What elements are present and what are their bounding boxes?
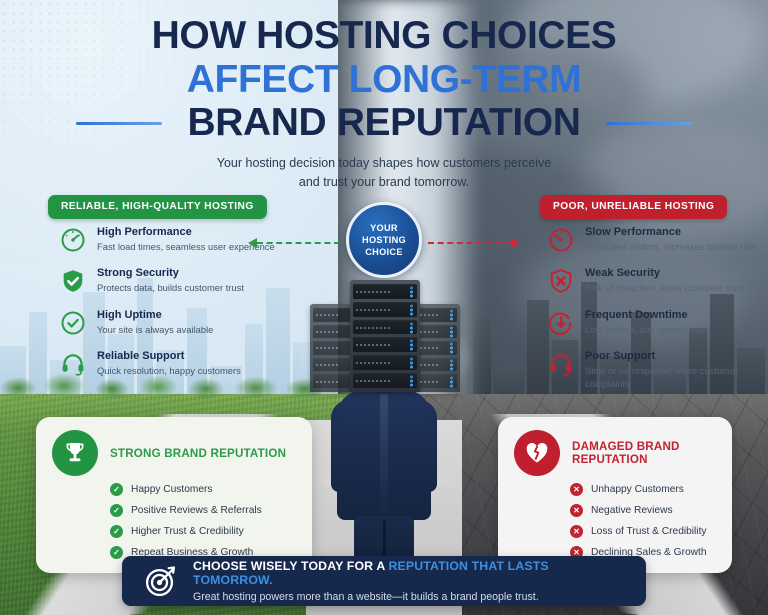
cross-icon: ✕ xyxy=(570,504,583,517)
benefit-list: ✓Happy Customers ✓Positive Reviews & Ref… xyxy=(52,483,296,559)
shield-check-icon xyxy=(60,268,86,294)
card-title: DAMAGED BRAND REPUTATION xyxy=(572,440,716,466)
hub-line-1: YOUR xyxy=(370,223,398,233)
footer-subline: Great hosting powers more than a website… xyxy=(193,591,624,603)
risk-list: ✕Unhappy Customers ✕Negative Reviews ✕Lo… xyxy=(514,483,716,559)
damaged-brand-reputation-card: DAMAGED BRAND REPUTATION ✕Unhappy Custom… xyxy=(498,417,732,573)
arrow-to-poor xyxy=(428,237,520,249)
arrow-to-reliable xyxy=(248,237,340,249)
list-item-label: Unhappy Customers xyxy=(591,484,684,495)
page-title-line-1: HOW HOSTING CHOICES xyxy=(0,14,768,58)
broken-heart-icon xyxy=(514,430,560,476)
hub-line-3: CHOICE xyxy=(365,247,403,257)
feature-title: Reliable Support xyxy=(97,350,241,364)
subtitle-line-2: and trust your brand tomorrow. xyxy=(0,173,768,192)
feature-desc: Protects data, builds customer trust xyxy=(97,282,244,295)
headset-icon xyxy=(548,351,574,377)
hub-line-2: HOSTING xyxy=(362,235,406,245)
arrow-dash-right xyxy=(428,242,511,244)
feature-item: Weak Security Risk of breaches, loses cu… xyxy=(548,267,768,294)
cross-icon: ✕ xyxy=(570,483,583,496)
arrow-dash-left xyxy=(257,242,340,244)
call-to-action-banner: CHOOSE WISELY TODAY FOR A REPUTATION THA… xyxy=(122,556,646,606)
person-suit-jacket xyxy=(337,390,431,520)
footer-headline-plain: CHOOSE WISELY TODAY FOR A xyxy=(193,559,388,573)
check-icon: ✓ xyxy=(110,504,123,517)
page-title-line-3-row: BRAND REPUTATION xyxy=(0,101,768,145)
poor-hosting-feature-list: Slow Performance Frustrates visitors, in… xyxy=(548,226,768,404)
target-arrow-icon xyxy=(144,564,178,598)
arrow-head-right-icon xyxy=(511,238,520,248)
feature-item: Poor Support Slow or no response, more c… xyxy=(548,350,768,390)
list-item: ✓Higher Trust & Credibility xyxy=(110,525,296,538)
title-rule-right xyxy=(606,122,692,125)
strong-brand-reputation-card: STRONG BRAND REPUTATION ✓Happy Customers… xyxy=(36,417,312,573)
page-title-line-3: BRAND REPUTATION xyxy=(188,101,581,145)
feature-desc: Slow or no response, more customer compl… xyxy=(585,365,768,390)
cross-icon: ✕ xyxy=(570,525,583,538)
your-hosting-choice-hub[interactable]: YOUR HOSTING CHOICE xyxy=(346,202,422,278)
subtitle-line-1: Your hosting decision today shapes how c… xyxy=(0,154,768,173)
feature-title: Weak Security xyxy=(585,267,744,281)
feature-text: Slow Performance Frustrates visitors, in… xyxy=(585,226,756,253)
list-item: ✓Positive Reviews & Referrals xyxy=(110,504,296,517)
list-item: ✕Loss of Trust & Credibility xyxy=(570,525,716,538)
infographic-canvas: HOW HOSTING CHOICES AFFECT LONG-TERM BRA… xyxy=(0,0,768,615)
feature-text: Weak Security Risk of breaches, loses cu… xyxy=(585,267,744,294)
feature-title: Poor Support xyxy=(585,350,768,364)
feature-desc: Risk of breaches, loses customer trust xyxy=(585,282,744,295)
page-title-line-2: AFFECT LONG-TERM xyxy=(0,58,768,102)
feature-text: Frequent Downtime Lost visitors, lost op… xyxy=(585,309,711,336)
feature-desc: Quick resolution, happy customers xyxy=(97,365,241,378)
clock-check-icon xyxy=(60,310,86,336)
feature-title: Strong Security xyxy=(97,267,244,281)
list-item-label: Negative Reviews xyxy=(591,505,673,516)
list-item-label: Higher Trust & Credibility xyxy=(131,526,244,537)
list-item: ✓Happy Customers xyxy=(110,483,296,496)
feature-title: High Uptime xyxy=(97,309,213,323)
feature-text: High Uptime Your site is always availabl… xyxy=(97,309,213,336)
feature-item: Slow Performance Frustrates visitors, in… xyxy=(548,226,768,253)
reliable-hosting-feature-list: High Performance Fast load times, seamle… xyxy=(60,226,290,392)
card-header: STRONG BRAND REPUTATION xyxy=(52,430,296,476)
card-header: DAMAGED BRAND REPUTATION xyxy=(514,430,716,476)
server-rack-center xyxy=(350,280,420,392)
list-item-label: Positive Reviews & Referrals xyxy=(131,505,262,516)
feature-item: Strong Security Protects data, builds cu… xyxy=(60,267,290,294)
check-icon: ✓ xyxy=(110,546,123,559)
hub-label: YOUR HOSTING CHOICE xyxy=(362,222,406,258)
feature-desc: Lost visitors, lost opportunities xyxy=(585,324,711,337)
header: HOW HOSTING CHOICES AFFECT LONG-TERM BRA… xyxy=(0,14,768,193)
list-item-label: Happy Customers xyxy=(131,484,213,495)
check-icon: ✓ xyxy=(110,525,123,538)
downtime-arrow-icon xyxy=(548,310,574,336)
feature-text: Reliable Support Quick resolution, happy… xyxy=(97,350,241,377)
speedometer-icon xyxy=(60,227,86,253)
list-item: ✕Negative Reviews xyxy=(570,504,716,517)
badge-poor-hosting: POOR, UNRELIABLE HOSTING xyxy=(540,195,727,219)
list-item: ✕Unhappy Customers xyxy=(570,483,716,496)
trophy-icon xyxy=(52,430,98,476)
subtitle: Your hosting decision today shapes how c… xyxy=(0,154,768,193)
footer-text-block: CHOOSE WISELY TODAY FOR A REPUTATION THA… xyxy=(193,559,624,603)
feature-desc: Frustrates visitors, increases bounce ra… xyxy=(585,241,756,254)
feature-title: Slow Performance xyxy=(585,226,756,240)
feature-item: High Uptime Your site is always availabl… xyxy=(60,309,290,336)
headset-icon xyxy=(60,351,86,377)
check-icon: ✓ xyxy=(110,483,123,496)
feature-desc: Your site is always available xyxy=(97,324,213,337)
list-item-label: Loss of Trust & Credibility xyxy=(591,526,707,537)
badge-reliable-hosting: RELIABLE, HIGH-QUALITY HOSTING xyxy=(48,195,267,219)
card-title: STRONG BRAND REPUTATION xyxy=(110,447,286,460)
title-rule-left xyxy=(76,122,162,125)
feature-text: Strong Security Protects data, builds cu… xyxy=(97,267,244,294)
feature-title: Frequent Downtime xyxy=(585,309,711,323)
feature-item: Reliable Support Quick resolution, happy… xyxy=(60,350,290,377)
feature-text: Poor Support Slow or no response, more c… xyxy=(585,350,768,390)
feature-item: Frequent Downtime Lost visitors, lost op… xyxy=(548,309,768,336)
footer-headline: CHOOSE WISELY TODAY FOR A REPUTATION THA… xyxy=(193,559,624,587)
shield-x-icon xyxy=(548,268,574,294)
arrow-head-left-icon xyxy=(248,238,257,248)
speedometer-icon xyxy=(548,227,574,253)
